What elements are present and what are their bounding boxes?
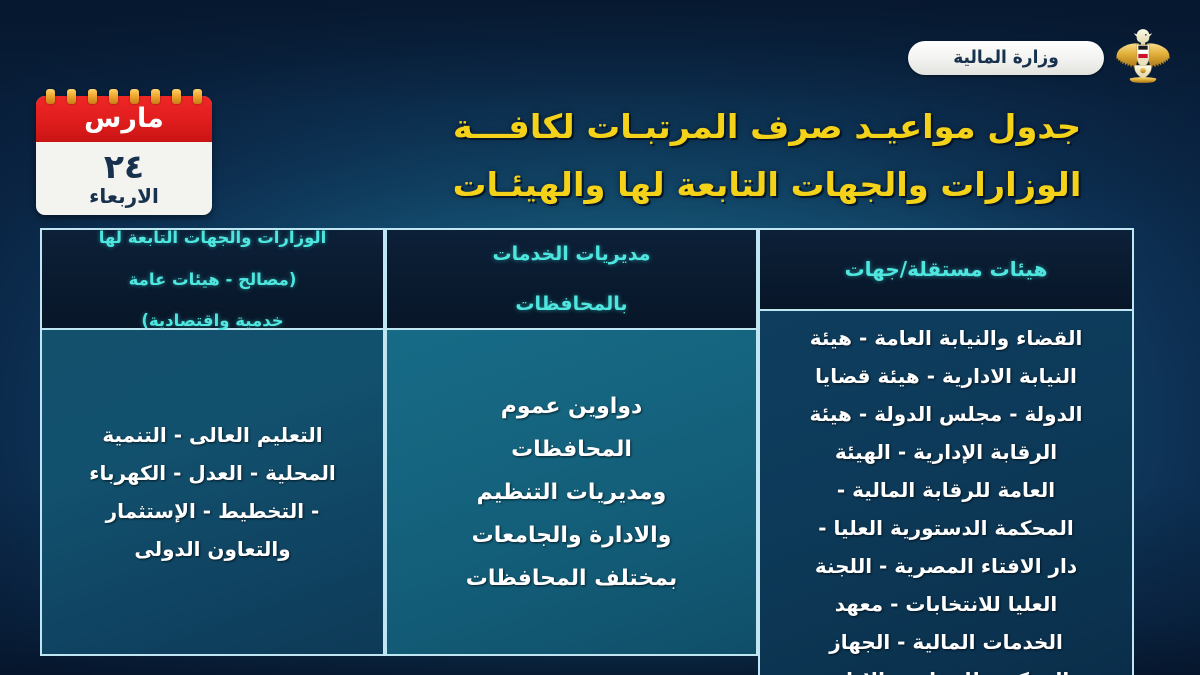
calendar-badge: مارس ٢٤ الاربعاء <box>36 96 212 215</box>
calendar-ring-icon <box>88 89 97 104</box>
cell-line: التعليم العالى - التنمية <box>89 416 336 454</box>
cell-line: الرقابة الإدارية - الهيئة <box>810 433 1083 471</box>
calendar-ring-icon <box>67 89 76 104</box>
cell-line: - التخطيط - الإستثمار <box>89 492 336 530</box>
table-cell-ministries: التعليم العالى - التنمية المحلية - العدل… <box>40 330 385 656</box>
cell-line: دواوين عموم <box>466 385 678 428</box>
table-column-ministries: الوزارات والجهات التابعة لها (مصالح - هي… <box>40 228 385 656</box>
calendar-ring-icon <box>109 89 118 104</box>
cell-line: الخدمات المالية - الجهاز <box>810 623 1083 661</box>
cell-line: القضاء والنيابة العامة - هيئة <box>810 319 1083 357</box>
calendar-rings <box>42 89 206 103</box>
cell-line: بمختلف المحافظات <box>466 557 678 600</box>
calendar-ring-icon <box>46 89 55 104</box>
cell-line: العليا للانتخابات - معهد <box>810 585 1083 623</box>
ministry-name-plate: وزارة المالية <box>908 41 1104 75</box>
calendar-ring-icon <box>193 89 202 104</box>
top-bar: وزارة المالية <box>0 0 1200 98</box>
page-title-line-2: الوزارات والجهات التابعة لها والهيئـات <box>342 156 1193 214</box>
column-header-ministries: الوزارات والجهات التابعة لها (مصالح - هي… <box>40 228 385 330</box>
column-header-independent-bodies: هيئات مستقلة/جهات <box>758 228 1134 311</box>
cell-line: الدولة - مجلس الدولة - هيئة <box>810 395 1083 433</box>
cell-line: المركزى للتنظيم والادارة <box>810 661 1083 675</box>
ministry-name-text: وزارة المالية <box>953 48 1059 69</box>
table-column-independent-bodies: هيئات مستقلة/جهات القضاء والنيابة العامة… <box>758 228 1134 656</box>
column-header-directorates: مديريات الخدمات بالمحافظات <box>385 228 758 330</box>
calendar-ring-icon <box>130 89 139 104</box>
column-header-line: (مصالح - هيئات عامة <box>99 267 327 292</box>
column-header-line: بالمحافظات <box>493 289 651 320</box>
page-title: جدول مواعيـد صرف المرتبـات لكافـــة الوز… <box>350 98 1184 214</box>
cell-line: المحافظات <box>466 428 678 471</box>
slide-canvas: وزارة المالية مارس ٢٤ الاربعاء جدول مواع… <box>0 0 1200 675</box>
cell-line: المحلية - العدل - الكهرباء <box>89 454 336 492</box>
cell-line: العامة للرقابة المالية - <box>810 471 1083 509</box>
calendar-day-number: ٢٤ <box>36 142 212 185</box>
calendar-day-name: الاربعاء <box>36 185 212 215</box>
eagle-of-saladin-icon <box>1112 25 1174 87</box>
column-header-line: الوزارات والجهات التابعة لها <box>99 225 327 250</box>
salary-schedule-table: الوزارات والجهات التابعة لها (مصالح - هي… <box>40 228 1134 656</box>
cell-line: والادارة والجامعات <box>466 514 678 557</box>
page-title-line-1: جدول مواعيـد صرف المرتبـات لكافـــة <box>342 98 1193 156</box>
cell-line: المحكمة الدستورية العليا - <box>810 509 1083 547</box>
cell-line: دار الافتاء المصرية - اللجنة <box>810 547 1083 585</box>
calendar-ring-icon <box>172 89 181 104</box>
table-cell-directorates: دواوين عموم المحافظات ومديريات التنظيم و… <box>385 330 758 656</box>
cell-line: النيابة الادارية - هيئة قضايا <box>810 357 1083 395</box>
calendar-body: مارس ٢٤ الاربعاء <box>36 96 212 215</box>
ministry-logo: وزارة المالية <box>868 24 1168 88</box>
table-cell-independent-bodies: القضاء والنيابة العامة - هيئة النيابة ال… <box>758 311 1134 675</box>
cell-line: ومديريات التنظيم <box>466 471 678 514</box>
column-header-line: هيئات مستقلة/جهات <box>845 254 1048 285</box>
cell-line: والتعاون الدولى <box>89 530 336 568</box>
column-header-line: مديريات الخدمات <box>493 239 651 270</box>
calendar-ring-icon <box>151 89 160 104</box>
table-column-directorates: مديريات الخدمات بالمحافظات دواوين عموم ا… <box>385 228 758 656</box>
